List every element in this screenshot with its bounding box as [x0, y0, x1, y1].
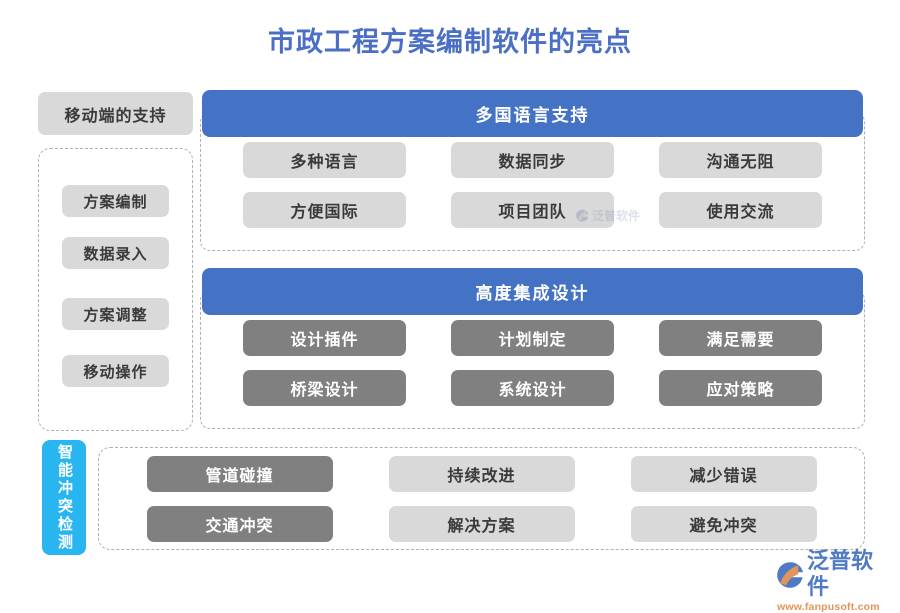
bottom-item-2[interactable]: 减少错误 [631, 456, 817, 492]
brand-logo: 泛普软件 www.fanpusoft.com [776, 548, 892, 588]
section-0-item-5[interactable]: 使用交流 [659, 192, 822, 228]
section-0-header: 多国语言支持 [202, 90, 863, 137]
left-item-0[interactable]: 方案编制 [62, 185, 169, 217]
bottom-item-1[interactable]: 持续改进 [389, 456, 575, 492]
bottom-item-4[interactable]: 解决方案 [389, 506, 575, 542]
section-0-item-2[interactable]: 沟通无阻 [659, 142, 822, 178]
section-0-item-4[interactable]: 项目团队 [451, 192, 614, 228]
section-multilanguage: 多国语言支持 多种语言 数据同步 沟通无阻 方便国际 项目团队 使用交流 [200, 90, 865, 251]
section-0-item-1[interactable]: 数据同步 [451, 142, 614, 178]
bottom-row-grid: 管道碰撞 持续改进 减少错误 交通冲突 解决方案 避免冲突 [98, 447, 865, 550]
left-item-3[interactable]: 移动操作 [62, 355, 169, 387]
logo-row: 泛普软件 [776, 548, 892, 600]
section-1-grid: 设计插件 计划制定 满足需要 桥梁设计 系统设计 应对策略 [200, 320, 865, 425]
bottom-item-3[interactable]: 交通冲突 [147, 506, 333, 542]
left-item-2[interactable]: 方案调整 [62, 298, 169, 330]
section-1-item-4[interactable]: 系统设计 [451, 370, 614, 406]
section-1-item-5[interactable]: 应对策略 [659, 370, 822, 406]
bottom-item-0[interactable]: 管道碰撞 [147, 456, 333, 492]
bottom-row-vertical-label: 智能冲突检测 [42, 440, 86, 555]
logo-name: 泛普软件 [807, 548, 892, 600]
section-0-grid: 多种语言 数据同步 沟通无阻 方便国际 项目团队 使用交流 [200, 142, 865, 247]
fanpu-logo-icon [776, 561, 804, 588]
section-1-item-1[interactable]: 计划制定 [451, 320, 614, 356]
section-1-header: 高度集成设计 [202, 268, 863, 315]
left-item-1[interactable]: 数据录入 [62, 237, 169, 269]
logo-url: www.fanpusoft.com [777, 601, 892, 613]
page-title: 市政工程方案编制软件的亮点 [0, 22, 900, 62]
section-1-item-3[interactable]: 桥梁设计 [243, 370, 406, 406]
section-integration: 高度集成设计 设计插件 计划制定 满足需要 桥梁设计 系统设计 应对策略 [200, 268, 865, 429]
section-0-item-3[interactable]: 方便国际 [243, 192, 406, 228]
bottom-item-5[interactable]: 避免冲突 [631, 506, 817, 542]
left-column-header: 移动端的支持 [38, 92, 193, 135]
section-1-item-0[interactable]: 设计插件 [243, 320, 406, 356]
section-1-item-2[interactable]: 满足需要 [659, 320, 822, 356]
section-0-item-0[interactable]: 多种语言 [243, 142, 406, 178]
